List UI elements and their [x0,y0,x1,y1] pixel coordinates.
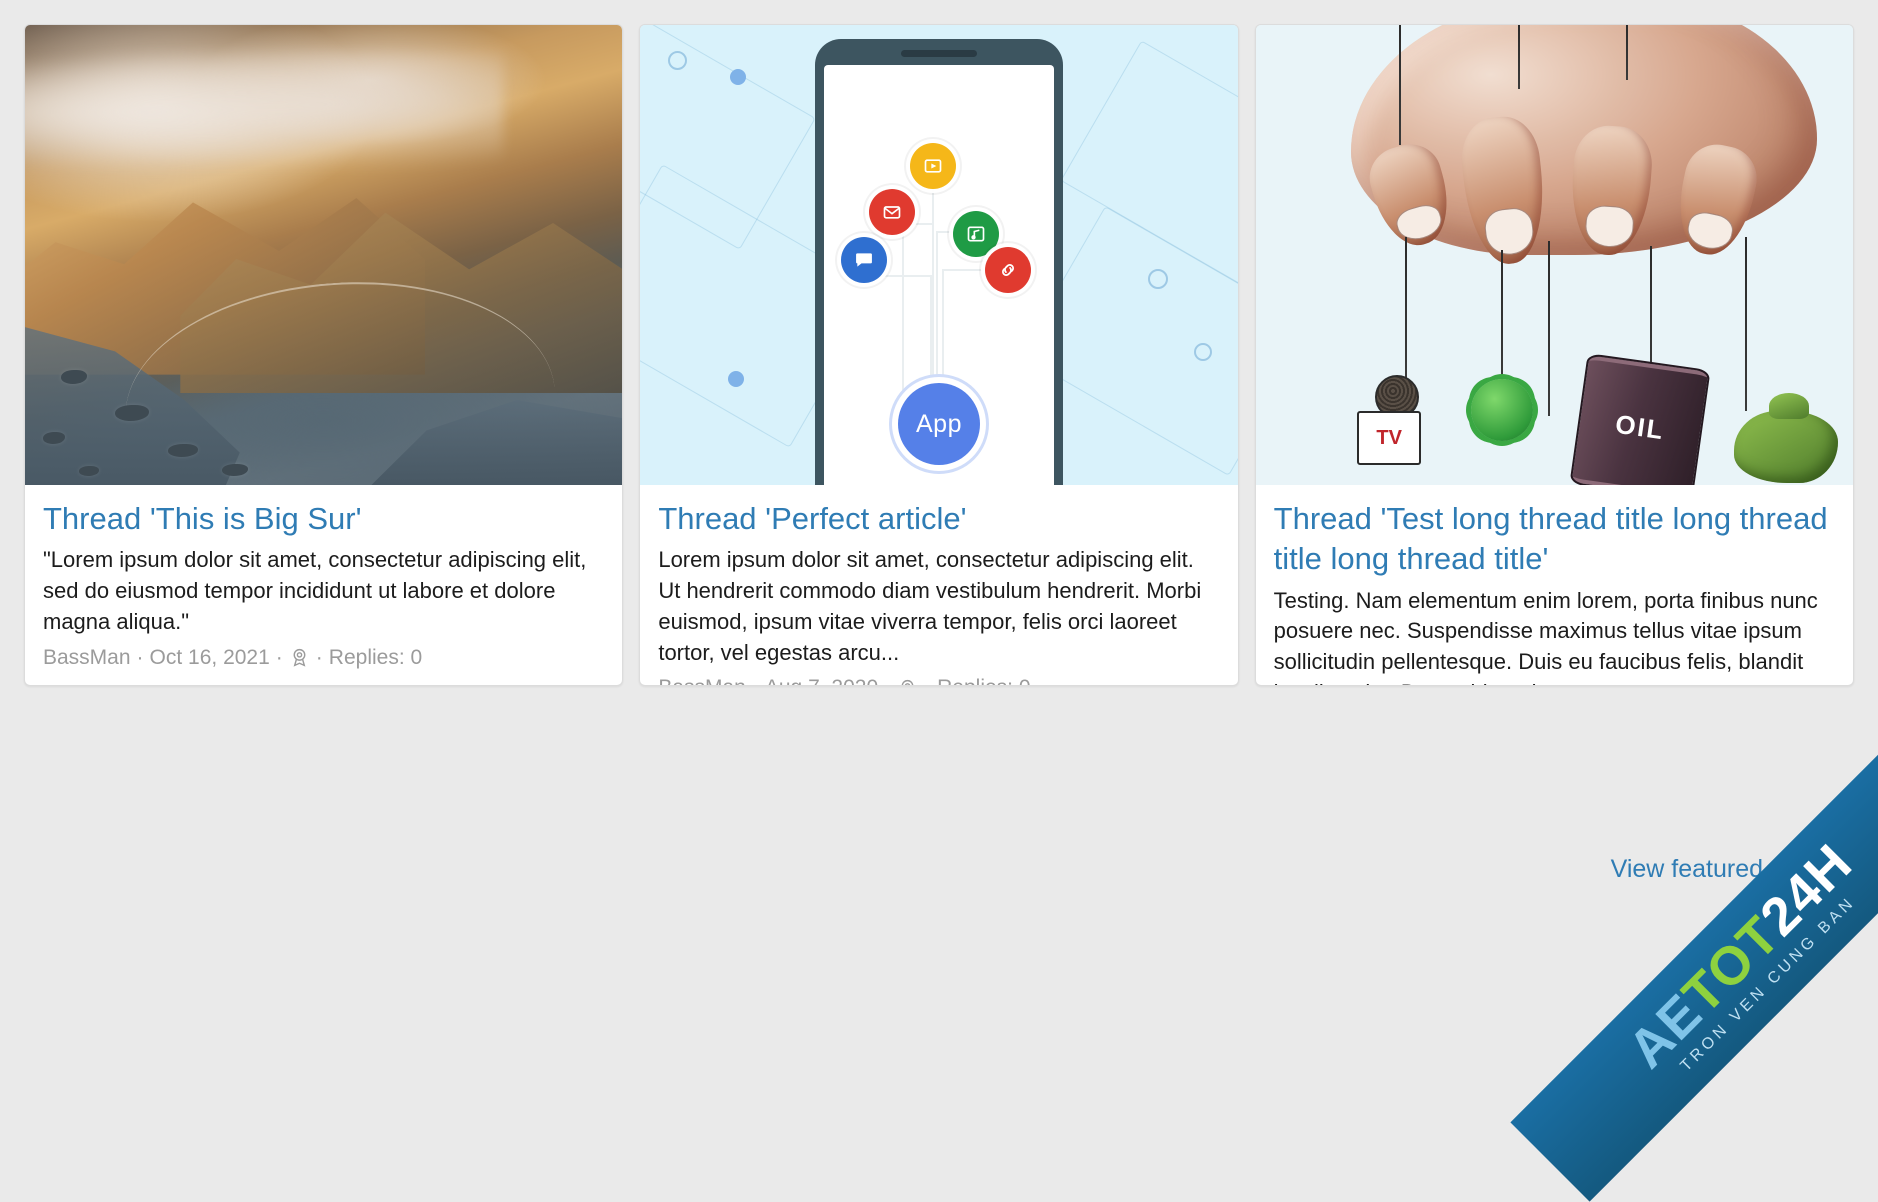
app-hub-circle: App [898,383,980,465]
soldier-helmet [1769,393,1809,419]
view-featured-content-link[interactable]: View featured content [1611,855,1852,883]
puppet-string [1405,237,1407,384]
puppet-string-top [1399,25,1401,145]
card-image-marionette[interactable]: TV OIL [1256,25,1853,485]
featured-content-section: Thread 'This is Big Sur' "Lorem ipsum do… [0,0,1878,890]
toy-soldier [1734,411,1838,483]
award-rosette-icon [289,647,310,668]
card-body: Thread 'Test long thread title long thre… [1256,485,1853,685]
mobile-app-illustration: App [640,25,1237,485]
card-title-link[interactable]: Thread 'Perfect article' [658,499,1219,539]
meta-separator: · [752,672,759,686]
featured-card[interactable]: TV OIL Thread 'Test long thread title lo… [1255,24,1854,686]
card-date: Oct 16, 2021 [150,642,270,674]
meta-separator: · [137,642,144,674]
watermark-subtitle: TRON VEN CUNG BAN [1677,893,1859,1075]
watermark-part-ae: AE [1617,983,1714,1080]
card-date: Aug 7, 2020 [765,672,878,686]
connector-wire [902,223,934,397]
card-image-app-illustration[interactable]: App [640,25,1237,485]
oil-label: OIL [1614,408,1667,446]
marionette-hand-illustration: TV OIL [1256,25,1853,485]
card-snippet: Lorem ipsum dolor sit amet, consectetur … [658,545,1219,668]
chat-icon-bubble [841,237,887,283]
phone-mockup: App [815,39,1063,485]
card-snippet: Testing. Nam elementum enim lorem, porta… [1274,586,1835,686]
puppet-string-top [1626,25,1628,80]
big-sur-coastline-photo [25,25,622,485]
card-meta: BassMan · Aug 7, 2020 · · Replies: 0 [658,672,1219,686]
card-author[interactable]: BassMan [43,642,131,674]
meta-separator: · [316,642,323,674]
tv-label: TV [1376,427,1402,450]
award-rosette-icon [897,678,918,686]
puppet-string-top [1518,25,1520,89]
meta-separator: · [276,642,283,674]
featured-card[interactable]: App Thread 'Perfect article' Lorem ipsum… [639,24,1238,686]
tv-microphone-box: TV [1357,411,1421,465]
app-hub-label: App [916,410,962,439]
featured-card[interactable]: Thread 'This is Big Sur' "Lorem ipsum do… [24,24,623,686]
oil-barrel: OIL [1570,353,1711,485]
meta-separator: · [884,672,891,686]
background-dot [1194,343,1212,361]
card-author[interactable]: BassMan [658,672,746,686]
fingernail [1684,208,1735,252]
phone-speaker-notch [901,50,977,57]
sea-rock [43,432,65,444]
watermark-part-tot: TOT [1671,905,1791,1025]
puppet-string [1745,237,1747,412]
video-icon-bubble [910,143,956,189]
phone-screen: App [824,65,1054,485]
puppet-string [1548,241,1550,416]
sea-rock [115,405,149,421]
featured-card-row: Thread 'This is Big Sur' "Lorem ipsum do… [24,24,1854,686]
card-image-big-sur[interactable] [25,25,622,485]
card-body: Thread 'This is Big Sur' "Lorem ipsum do… [25,485,622,685]
connector-wire [932,165,934,395]
fog-cloud-layer [25,53,503,173]
card-title-link[interactable]: Thread 'Test long thread title long thre… [1274,499,1835,580]
fingernail [1584,205,1635,249]
featured-footer: View featured content [1611,855,1852,884]
sea-rock [79,466,99,476]
sea-rock [222,464,248,476]
background-dot [1148,269,1168,289]
fingernail [1482,206,1535,257]
card-title-link[interactable]: Thread 'This is Big Sur' [43,499,604,539]
mail-icon-bubble [869,189,915,235]
music-icon-bubble [953,211,999,257]
virus-particle [1471,379,1533,441]
card-snippet: "Lorem ipsum dolor sit amet, consectetur… [43,545,604,637]
card-meta: BassMan · Oct 16, 2021 · · Replies: 0 [43,642,604,674]
puppet-string [1501,250,1503,388]
card-replies: Replies: 0 [937,672,1030,686]
card-replies: Replies: 0 [329,642,422,674]
meta-separator: · [924,672,931,686]
card-body: Thread 'Perfect article' Lorem ipsum dol… [640,485,1237,685]
link-icon-bubble [985,247,1031,293]
